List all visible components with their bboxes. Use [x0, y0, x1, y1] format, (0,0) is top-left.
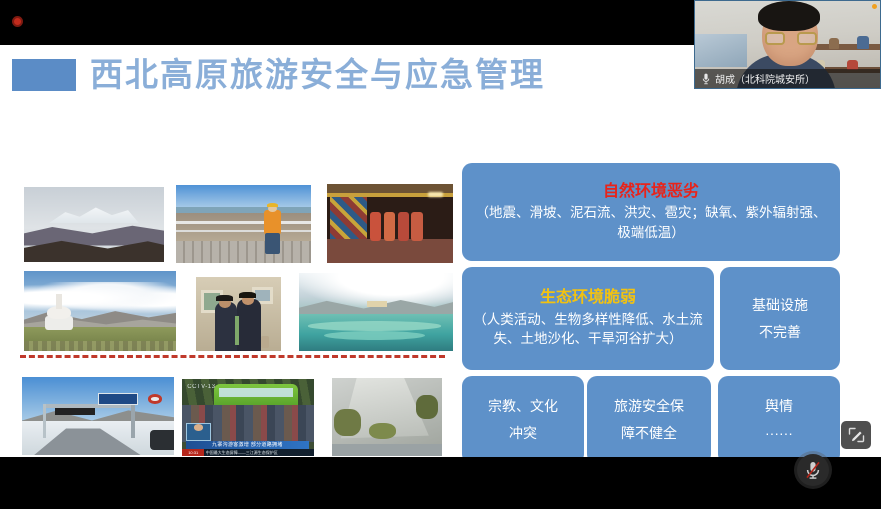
eyeglass-left: [765, 32, 785, 45]
microphone-muted-icon: [804, 460, 822, 480]
card-infrastructure[interactable]: 基础设施 不完善: [720, 267, 840, 370]
card-line-1: 旅游安全保: [614, 393, 684, 420]
landslide-slope-photo: [332, 378, 442, 456]
turquoise-lake-valley-photo: [299, 273, 453, 351]
person-hair: [758, 1, 820, 31]
slide-title-row: 西北高原旅游安全与应急管理: [12, 58, 545, 91]
card-line-2: 冲突: [509, 420, 537, 447]
shared-slide: 西北高原旅游安全与应急管理: [0, 45, 881, 457]
record-dot-icon: [12, 16, 23, 27]
news-headline-banner: 九寨沟游客激增 部分道路拥堵: [186, 441, 309, 449]
red-dashed-divider: [20, 355, 445, 358]
eyeglass-right: [797, 32, 817, 45]
window-region: [695, 34, 747, 67]
card-body: （地震、滑坡、泥石流、洪灾、雹灾；缺氧、紫外辐射强、极端低温）: [470, 203, 832, 242]
risk-card-group: 自然环境恶劣 （地震、滑坡、泥石流、洪灾、雹灾；缺氧、紫外辐射强、极端低温） 生…: [462, 120, 842, 457]
participant-name-label: 胡成（北科院城安所）: [715, 71, 815, 86]
card-line-1: 舆情: [765, 393, 793, 420]
meeting-screen-share-window: 录制中 胡成（北科院城安所）: [0, 0, 881, 509]
card-natural-environment[interactable]: 自然环境恶劣 （地震、滑坡、泥石流、洪灾、雹灾；缺氧、紫外辐射强、极端低温）: [462, 163, 840, 261]
title-accent-block: [12, 59, 76, 91]
photo-collage: CCTV-13 九寨沟游客激增 部分道路拥堵 中国最大生态屏障——三江源生态保护…: [0, 125, 455, 455]
pin-dot-icon: [872, 4, 877, 9]
plateau-viewpoint-tourist-photo: [176, 185, 311, 263]
card-religion-culture-conflict[interactable]: 宗教、文化 冲突: [462, 376, 584, 457]
shelf-item-1: [857, 36, 869, 49]
page-title: 西北高原旅游安全与应急管理: [90, 58, 545, 91]
card-heading: 生态环境脆弱: [540, 288, 636, 307]
card-line-2: 不完善: [759, 319, 801, 346]
card-public-opinion[interactable]: 舆情 ······: [718, 376, 840, 457]
card-line-1: 宗教、文化: [488, 393, 558, 420]
local-residents-traditional-dress-photo: [196, 277, 281, 351]
recording-label: 录制中: [29, 9, 77, 33]
snowy-highway-gantry-sign-photo: [22, 377, 174, 455]
participant-name-bar: 胡成（北科院城安所）: [695, 69, 880, 88]
selfview-video-tile[interactable]: 胡成（北科院城安所）: [694, 0, 881, 89]
card-line-1: 基础设施: [752, 292, 808, 319]
annotate-button[interactable]: [841, 421, 871, 449]
cctv-news-crowd-bus-photo: CCTV-13 九寨沟游客激增 部分道路拥堵 中国最大生态屏障——三江源生态保护…: [182, 379, 314, 456]
snow-mountain-range-photo: [24, 187, 164, 262]
shelf-item-2: [829, 38, 839, 49]
mic-muted-button[interactable]: [797, 454, 829, 486]
news-ticker-time: 10:31: [182, 449, 204, 456]
monastery-stupa-grassland-photo: [24, 271, 176, 351]
card-tourism-safety-guarantee[interactable]: 旅游安全保 障不健全: [587, 376, 711, 457]
tibetan-temple-dance-photo: [327, 184, 453, 263]
card-heading: 自然环境恶劣: [603, 182, 699, 201]
recording-indicator: 录制中: [12, 9, 77, 33]
card-line-2: ······: [765, 420, 793, 447]
card-body: （人类活动、生物多样性降低、水土流失、土地沙化、干旱河谷扩大）: [470, 310, 706, 349]
news-channel-logo: CCTV-13: [187, 384, 215, 390]
annotate-pencil-icon: [848, 427, 865, 443]
microphone-icon: [702, 73, 710, 85]
card-line-2: 障不健全: [621, 420, 677, 447]
card-ecological-environment[interactable]: 生态环境脆弱 （人类活动、生物多样性降低、水土流失、土地沙化、干旱河谷扩大）: [462, 267, 714, 370]
